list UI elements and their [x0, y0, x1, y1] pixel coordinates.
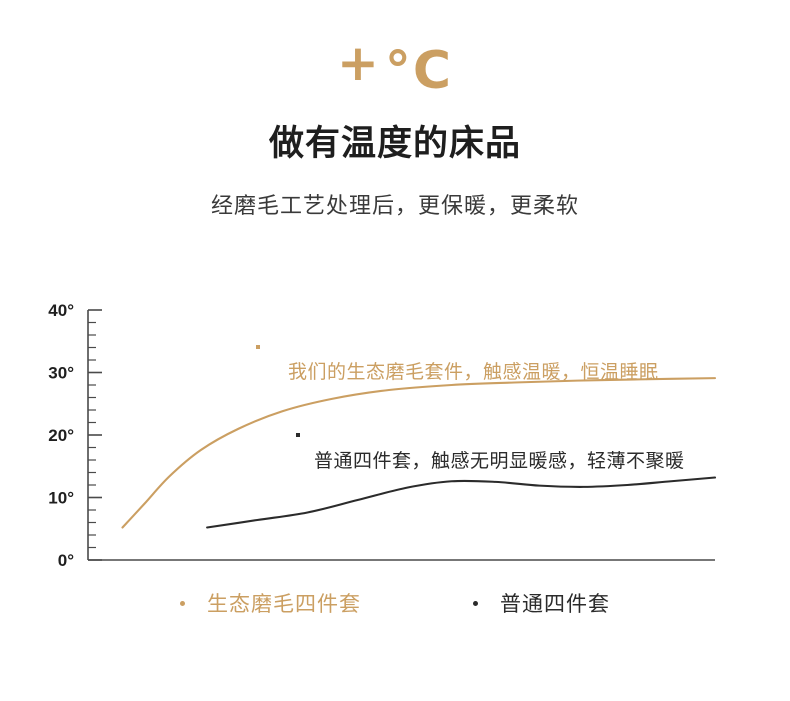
promo-page: +°C 做有温度的床品 经磨毛工艺处理后，更保暖，更柔软 0°10°20°30°…: [0, 0, 790, 701]
page-subtitle: 经磨毛工艺处理后，更保暖，更柔软: [0, 188, 790, 220]
legend-dot-icon-ordinary: [473, 601, 478, 606]
legend-item-ordinary[interactable]: 普通四件套: [473, 588, 610, 618]
y-axis-ticks: [88, 310, 102, 560]
plus-icon: +: [337, 34, 381, 92]
legend-item-premium[interactable]: 生态磨毛四件套: [180, 588, 361, 618]
page-title: 做有温度的床品: [0, 115, 790, 166]
hero-block: +°C 做有温度的床品 经磨毛工艺处理后，更保暖，更柔软: [0, 0, 790, 220]
y-tick-label: 20°: [48, 426, 74, 445]
celsius-unit: °C: [385, 41, 453, 101]
y-tick-label: 40°: [48, 301, 74, 320]
annotation-ordinary-text: 普通四件套，触感无明显暖感，轻薄不聚暖: [314, 450, 685, 472]
chart-legend: 生态磨毛四件套 普通四件套: [0, 588, 790, 618]
y-tick-label: 30°: [48, 364, 74, 383]
black-note-marker-icon: [296, 433, 300, 437]
orange-note-marker-icon: [256, 345, 260, 349]
legend-dot-icon-premium: [180, 601, 185, 606]
temperature-badge: +°C: [0, 38, 790, 97]
legend-label-premium: 生态磨毛四件套: [207, 588, 361, 618]
chart-canvas: 0°10°20°30°40° 我们的生态磨毛套件，触感温暖，恒温睡眠 普通四件套…: [0, 295, 790, 595]
y-tick-label: 0°: [58, 551, 74, 570]
annotation-premium-text: 我们的生态磨毛套件，触感温暖，恒温睡眠: [288, 361, 659, 383]
y-tick-label: 10°: [48, 489, 74, 508]
legend-label-ordinary: 普通四件套: [500, 588, 610, 618]
y-axis-tick-labels: 0°10°20°30°40°: [48, 301, 74, 570]
series-line-ordinary: [207, 478, 715, 528]
